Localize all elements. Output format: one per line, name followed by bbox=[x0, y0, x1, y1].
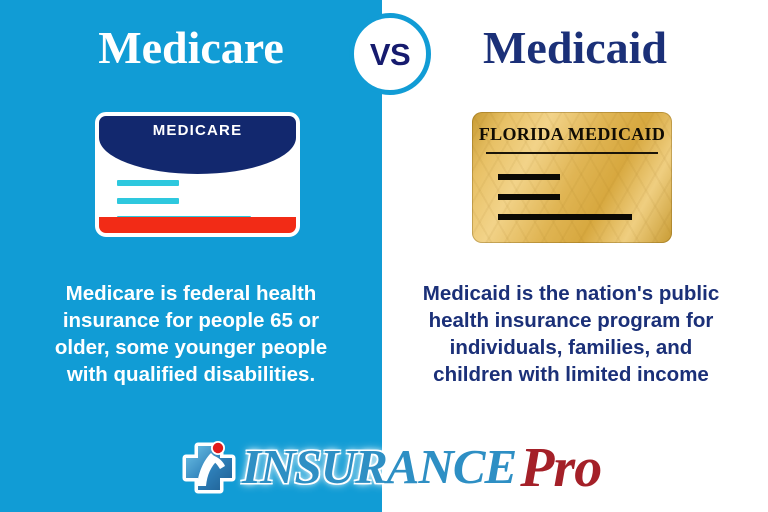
medicaid-card-image: FLORIDA MEDICAID bbox=[472, 112, 672, 243]
medicaid-description: Medicaid is the nation's public health i… bbox=[412, 280, 730, 388]
medicare-card-image: MEDICARE bbox=[95, 112, 300, 237]
vs-label: VS bbox=[370, 39, 410, 70]
medical-cross-person-icon bbox=[178, 436, 240, 498]
medicaid-card-bar bbox=[498, 214, 632, 220]
medicaid-card-rule bbox=[486, 152, 658, 154]
medicare-card-body bbox=[99, 174, 296, 222]
infographic-root: Medicare Medicaid VS MEDICARE FLORIDA ME… bbox=[0, 0, 768, 512]
medicaid-card-header-label: FLORIDA MEDICAID bbox=[472, 124, 672, 145]
medicare-description: Medicare is federal health insurance for… bbox=[34, 280, 348, 388]
medicare-card-line bbox=[117, 198, 179, 204]
brand-name-pro: Pro bbox=[520, 440, 601, 496]
medicare-card-header: MEDICARE bbox=[99, 116, 296, 174]
vs-badge: VS bbox=[349, 13, 431, 95]
medicare-card-footer-stripe bbox=[99, 217, 296, 233]
brand-name-insurance: INSURANCE bbox=[242, 442, 516, 491]
brand-logo: INSURANCE Pro bbox=[178, 428, 598, 506]
medicaid-card-bar bbox=[498, 174, 560, 180]
medicare-card-header-label: MEDICARE bbox=[153, 122, 243, 139]
medicare-title: Medicare bbox=[0, 24, 382, 72]
medicare-card-line bbox=[117, 180, 179, 186]
medicaid-card-bar bbox=[498, 194, 560, 200]
medicaid-title: Medicaid bbox=[382, 24, 768, 72]
